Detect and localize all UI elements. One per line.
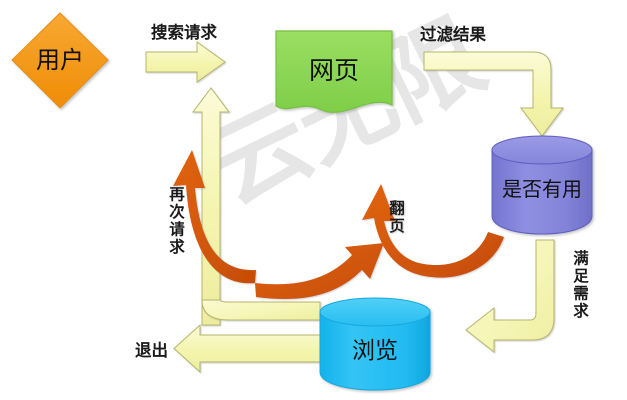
- node-useful[interactable]: 是否有用: [492, 136, 592, 234]
- edge-label-search-request: 搜索请求: [151, 22, 218, 42]
- edge-label-retry-request: 再次请求: [167, 186, 185, 256]
- retry-curve-arrow-right: [255, 243, 384, 299]
- edge-label-filter-result: 过滤结果: [420, 24, 487, 44]
- retry-elbow-path: [202, 300, 320, 320]
- useful-cylinder-top: [492, 136, 592, 164]
- exit-arrow: [174, 325, 320, 372]
- edge-retry-elbow: [202, 300, 320, 320]
- page-turn-arrow: [362, 184, 504, 278]
- node-browse[interactable]: 浏览: [320, 298, 430, 390]
- node-label-useful: 是否有用: [502, 177, 582, 201]
- edge-label-page-turn: 翻页: [387, 199, 405, 235]
- node-webpage[interactable]: 网页: [276, 31, 392, 112]
- flowchart-canvas: 云无限 搜索请求 再次请求 退出 过滤结果: [0, 0, 627, 400]
- edge-exit: 退出: [135, 325, 320, 372]
- edge-page-turn: 翻页: [362, 184, 504, 278]
- search-request-arrow: [146, 42, 225, 82]
- node-label-user: 用户: [36, 46, 84, 74]
- edge-search-request: 搜索请求: [146, 22, 225, 82]
- flowchart-svg: 云无限 搜索请求 再次请求 退出 过滤结果: [0, 0, 627, 400]
- node-label-browse: 浏览: [352, 338, 398, 364]
- node-label-webpage: 网页: [309, 56, 359, 85]
- edge-label-exit: 退出: [135, 340, 168, 360]
- edge-label-meets-need: 满足需求: [571, 250, 589, 320]
- browse-cylinder-top: [320, 298, 430, 326]
- node-user[interactable]: 用户: [12, 13, 108, 108]
